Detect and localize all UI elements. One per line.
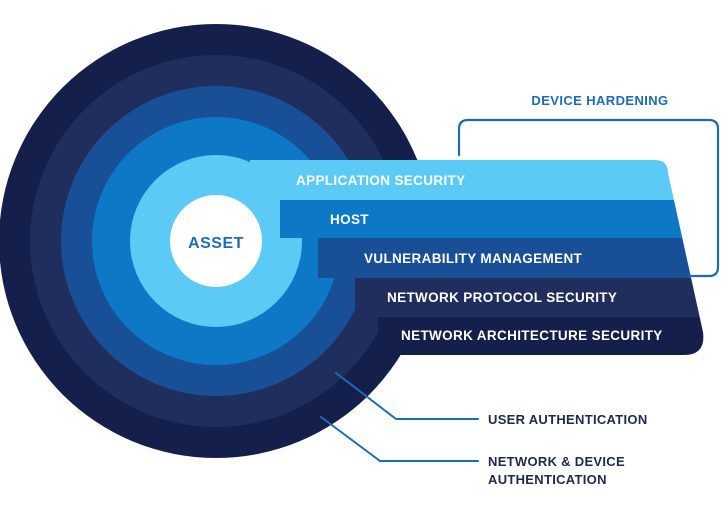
diagram-canvas: ASSET APPLICATION SECURITY HOST VULNERAB… <box>0 0 726 518</box>
callout-label-user-authentication: USER AUTHENTICATION <box>488 412 648 427</box>
security-layers-diagram: ASSET APPLICATION SECURITY HOST VULNERAB… <box>0 0 726 518</box>
device-hardening-label: DEVICE HARDENING <box>531 93 668 108</box>
leader-line-network-device-authentication <box>321 417 478 461</box>
asset-core-label: ASSET <box>188 235 244 252</box>
bar-label-vulnerability-management: VULNERABILITY MANAGEMENT <box>364 251 583 266</box>
bar-label-host: HOST <box>330 212 369 227</box>
bar-label-network-architecture-security: NETWORK ARCHITECTURE SECURITY <box>401 328 663 343</box>
callout-label-network-device-authentication-line2: AUTHENTICATION <box>488 472 607 487</box>
bar-label-application-security: APPLICATION SECURITY <box>296 173 466 188</box>
callout-label-network-device-authentication-line1: NETWORK & DEVICE <box>488 454 625 469</box>
bar-label-network-protocol-security: NETWORK PROTOCOL SECURITY <box>387 290 617 305</box>
